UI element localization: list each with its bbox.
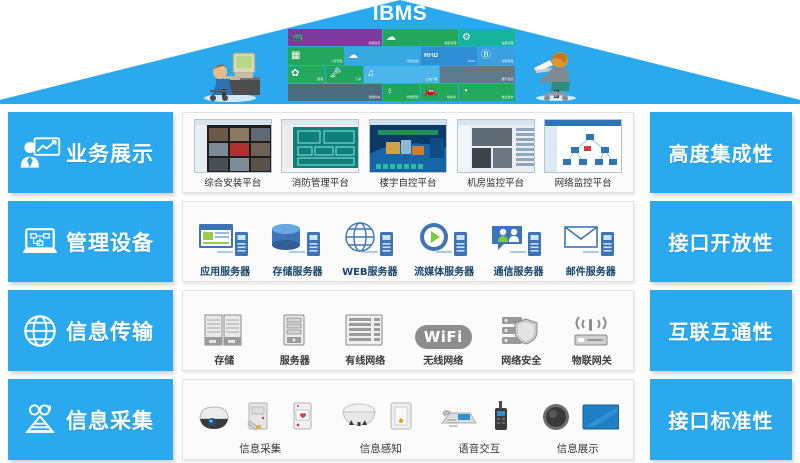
roof-tile[interactable]: ☁能耗管理 xyxy=(383,29,458,46)
roof-tile-label: 智能停车 xyxy=(368,97,380,100)
roof-tile[interactable]: ◔信息发布 xyxy=(459,84,515,101)
roof-tile-icon: RFID xyxy=(424,53,438,59)
server-caption: WEB服务器 xyxy=(342,263,397,278)
sensor-collection-icon xyxy=(18,398,62,442)
emergency-button-icon[interactable] xyxy=(285,401,323,438)
sidebar-item-management-devices[interactable]: 管理设备 xyxy=(8,201,173,282)
ibms-module-tile-grid: 📹视频监控☁能耗管理⚙设备管理▦人员管理☁环境监测RFIDRFIDⒷ访客管理✿照… xyxy=(288,29,515,101)
device-group-caption: 信息展示 xyxy=(557,441,599,456)
device-group: 信息感知 xyxy=(340,388,422,456)
feature-badge-standard-interface[interactable]: 接口标准性 xyxy=(650,379,792,460)
wifi-badge-icon: WiFi xyxy=(415,301,472,349)
layer-management-devices: 管理设备 应用服务器存储服务器WEB服务器流媒体服务器通信服务器邮件服务器 接口… xyxy=(0,201,800,282)
application-window-icon xyxy=(197,212,253,260)
feature-badge-interconnection[interactable]: 互联互通性 xyxy=(650,290,792,371)
roof-tile-icon: ◔ xyxy=(462,87,468,97)
page-title: IBMS xyxy=(0,2,800,26)
sidebar-item-information-transmission[interactable]: 信息传输 xyxy=(8,290,173,371)
platform-screenshot-caption: 综合安装平台 xyxy=(204,175,261,189)
smoke-detector-icon[interactable] xyxy=(340,401,378,438)
display-screen-icon[interactable] xyxy=(581,401,619,438)
roof-tile-label: 信息发布 xyxy=(501,97,513,100)
envelope-icon xyxy=(563,212,619,260)
roof-section: IBMS xyxy=(0,0,800,104)
feature-badge-label: 接口开放性 xyxy=(669,227,774,256)
platform-screenshot-item[interactable]: 综合安装平台 xyxy=(191,119,275,189)
platform-screenshot-caption: 楼宇自控平台 xyxy=(379,175,436,189)
globe-wireframe-icon xyxy=(342,212,398,260)
iot-gateway-icon xyxy=(571,301,613,349)
platform-screenshot-item[interactable]: 消防管理平台 xyxy=(278,119,362,189)
roof-tile[interactable]: 智能停车 xyxy=(288,84,382,101)
layer-information-collection: 信息采集 信息采集信息感知语音交互信息展示 接口标准性 xyxy=(0,379,800,460)
ibms-architecture-diagram: IBMS xyxy=(0,0,800,463)
management-devices-panel: 应用服务器存储服务器WEB服务器流媒体服务器通信服务器邮件服务器 xyxy=(182,201,634,282)
server-caption: 应用服务器 xyxy=(200,263,250,278)
feature-badge-high-integration[interactable]: 高度集成性 xyxy=(650,112,792,193)
wifi-badge-text: WiFi xyxy=(415,325,472,349)
presentation-person-icon xyxy=(18,131,62,175)
server-item[interactable]: 通信服务器 xyxy=(490,212,546,278)
roof-tile-label: 照明 xyxy=(317,79,323,82)
roof-tile-icon: ☁ xyxy=(348,51,358,61)
roof-tile-label: 楼宇自控 xyxy=(501,79,513,82)
speaker-icon[interactable] xyxy=(537,401,575,438)
roof-tile[interactable]: ♫公共广播 xyxy=(364,66,439,83)
roof-tile-icon: ⚙ xyxy=(462,33,471,43)
information-transmission-panel: 存储服务器有线网络WiFi无线网络网络安全物联网关 xyxy=(182,290,634,371)
server-caption: 通信服务器 xyxy=(493,263,543,278)
roof-tile-icon: 🚗 xyxy=(424,87,436,97)
device-group-icons xyxy=(197,388,323,438)
network-item[interactable]: 有线网络 xyxy=(344,301,386,367)
roof-tile[interactable]: 楼宇自控 xyxy=(440,66,515,83)
server-tower-icon xyxy=(274,301,316,349)
network-item[interactable]: 网络安全 xyxy=(500,301,542,367)
roof-tile-label: 视频监控 xyxy=(368,42,380,45)
operator-at-desktop-computer-illustration xyxy=(200,45,266,103)
roof-tile-label: 访客管理 xyxy=(501,61,513,64)
sidebar-label: 业务展示 xyxy=(66,138,154,168)
layer-information-transmission: 信息传输 存储服务器有线网络WiFi无线网络网络安全物联网关 互联互通性 xyxy=(0,290,800,371)
sidebar-label: 信息传输 xyxy=(66,316,154,346)
roof-tile-icon: ▦ xyxy=(291,51,300,61)
feature-badge-label: 高度集成性 xyxy=(669,138,774,167)
roof-tile[interactable]: ☁环境监测 xyxy=(345,47,420,64)
roof-tile-label: 公共广播 xyxy=(425,79,437,82)
device-group-caption: 信息采集 xyxy=(239,441,281,456)
dome-camera-icon[interactable] xyxy=(197,401,235,438)
network-caption: 有线网络 xyxy=(345,352,385,367)
device-group-caption: 信息感知 xyxy=(360,441,402,456)
sidebar-item-business-presentation[interactable]: 业务展示 xyxy=(8,112,173,193)
roof-tile[interactable]: ♀智能照明 xyxy=(383,84,420,101)
roof-tile-label: 人员管理 xyxy=(330,61,342,64)
server-item[interactable]: WEB服务器 xyxy=(342,212,398,278)
layer-business-presentation: 业务展示 综合安装平台消防管理平台楼宇自控平台机房监控平台网络监控平台 高度集成… xyxy=(0,112,800,193)
platform-screenshot-item[interactable]: 楼宇自控平台 xyxy=(366,119,450,189)
play-circle-icon xyxy=(416,212,472,260)
temperature-switch-icon[interactable] xyxy=(384,401,422,438)
server-item[interactable]: 存储服务器 xyxy=(269,212,325,278)
sidebar-label: 信息采集 xyxy=(66,405,154,435)
roof-tile-label: 能耗管理 xyxy=(444,42,456,45)
sidebar-label: 管理设备 xyxy=(66,227,154,257)
server-item[interactable]: 邮件服务器 xyxy=(563,212,619,278)
server-item[interactable]: 流媒体服务器 xyxy=(414,212,474,278)
platform-screenshot-caption: 消防管理平台 xyxy=(292,175,349,189)
roof-tile-icon: ♀ xyxy=(386,87,394,97)
desk-phone-icon[interactable] xyxy=(438,401,476,438)
network-item[interactable]: 物联网关 xyxy=(571,301,613,367)
platform-screenshot-item[interactable]: 网络监控平台 xyxy=(541,119,625,189)
roof-tile-icon: Ⓑ xyxy=(481,51,491,61)
server-shield-icon xyxy=(500,301,542,349)
walkie-talkie-icon[interactable] xyxy=(482,401,520,438)
roof-tile[interactable]: ✿照明 xyxy=(288,66,325,83)
roof-tile[interactable]: ▦人员管理 xyxy=(288,47,344,64)
globe-grid-icon xyxy=(18,309,62,353)
roof-tile-icon: ✿ xyxy=(291,69,299,79)
roof-tile[interactable]: ⚙设备管理 xyxy=(459,29,515,46)
business-presentation-panel: 综合安装平台消防管理平台楼宇自控平台机房监控平台网络监控平台 xyxy=(182,112,634,193)
platform-screenshot-thumbnail xyxy=(544,119,622,173)
roof-tile[interactable]: 🗝门禁 xyxy=(326,66,363,83)
platform-screenshot-caption: 网络监控平台 xyxy=(555,175,612,189)
server-caption: 流媒体服务器 xyxy=(414,263,474,278)
roof-tile-label: RFID xyxy=(468,61,475,64)
roof-tile[interactable]: 📹视频监控 xyxy=(288,29,382,46)
roof-tile-icon: 📹 xyxy=(291,33,303,43)
patch-panel-icon xyxy=(344,301,386,349)
platform-screenshot-thumbnail xyxy=(369,119,447,173)
server-caption: 存储服务器 xyxy=(272,263,322,278)
server-item[interactable]: 应用服务器 xyxy=(197,212,253,278)
storage-array-icon xyxy=(203,301,245,349)
roof-tile-icon: ☁ xyxy=(386,33,396,43)
roof-tile-icon: ♫ xyxy=(367,69,375,79)
network-caption: 存储 xyxy=(214,352,234,367)
roof-tile-icon: 🗝 xyxy=(329,69,342,79)
roof-tile-label: 智能照明 xyxy=(406,97,418,100)
laptop-network-icon xyxy=(18,220,62,264)
device-group: 语音交互 xyxy=(438,388,520,456)
platform-screenshot-thumbnail xyxy=(281,119,359,173)
network-item[interactable]: 存储 xyxy=(203,301,245,367)
roof-tile-label: 停车场 xyxy=(447,97,456,100)
information-collection-panel: 信息采集信息感知语音交互信息展示 xyxy=(182,379,634,460)
network-caption: 网络安全 xyxy=(501,352,541,367)
feature-badge-open-interface[interactable]: 接口开放性 xyxy=(650,201,792,282)
roof-tile[interactable]: 🚗停车场 xyxy=(421,84,458,101)
roof-tile-label: 环境监测 xyxy=(406,61,418,64)
network-caption: 物联网关 xyxy=(572,352,612,367)
device-group-icons xyxy=(340,388,422,438)
device-group: 信息展示 xyxy=(537,388,619,456)
roof-tile-label: 门禁 xyxy=(355,79,361,82)
device-group-icons xyxy=(537,388,619,438)
network-caption: 无线网络 xyxy=(423,352,463,367)
people-chat-icon xyxy=(490,212,546,260)
roof-tile[interactable]: Ⓑ访客管理 xyxy=(478,47,515,64)
platform-screenshot-caption: 机房监控平台 xyxy=(467,175,524,189)
roof-tile-label: 设备管理 xyxy=(501,42,513,45)
device-group: 信息采集 xyxy=(197,388,323,456)
platform-screenshot-thumbnail xyxy=(194,119,272,173)
feature-badge-label: 互联互通性 xyxy=(669,316,774,345)
operator-with-laptop-illustration xyxy=(528,44,584,102)
sidebar-item-information-collection[interactable]: 信息采集 xyxy=(8,379,173,460)
network-item[interactable]: WiFi无线网络 xyxy=(415,301,472,367)
device-group-caption: 语音交互 xyxy=(458,441,500,456)
card-reader-icon[interactable] xyxy=(241,401,279,438)
roof-tile[interactable]: RFIDRFID xyxy=(421,47,477,64)
server-caption: 邮件服务器 xyxy=(566,263,616,278)
network-item[interactable]: 服务器 xyxy=(274,301,316,367)
platform-screenshot-item[interactable]: 机房监控平台 xyxy=(454,119,538,189)
network-caption: 服务器 xyxy=(280,352,310,367)
database-cylinder-icon xyxy=(269,212,325,260)
platform-screenshot-thumbnail xyxy=(457,119,535,173)
feature-badge-label: 接口标准性 xyxy=(669,405,774,434)
device-group-icons xyxy=(438,388,520,438)
